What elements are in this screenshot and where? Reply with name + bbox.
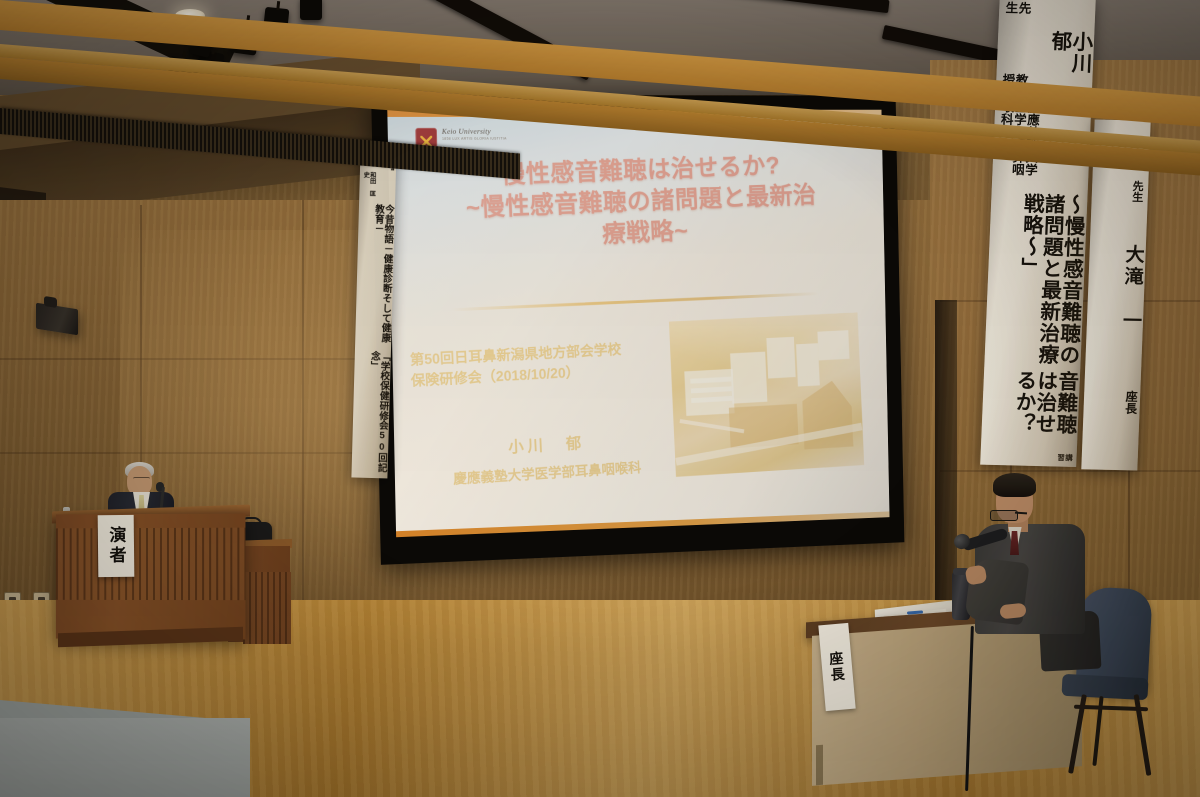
wall-seam-horizontal	[0, 452, 376, 454]
slide-presenter-block: 小川 郁 慶應義塾大学医学部耳鼻咽喉科	[411, 427, 680, 492]
slide-accent-bar-bottom	[396, 511, 890, 537]
chairperson-glasses	[990, 510, 1018, 521]
logo-subtitle: 1858 LUX ARTIS GLORIA IUSTITIA	[442, 137, 507, 141]
podium-fluted-panel	[56, 528, 246, 601]
banner-left-subtitle: 今昔物語－健康診断そして健康教育－	[357, 203, 393, 350]
table-leg	[816, 745, 823, 785]
banner-left-name: 和田 匡史	[361, 171, 375, 202]
speaker-podium	[56, 514, 246, 640]
banner-right-speaker-name: 小川 郁	[1001, 29, 1091, 74]
presenter-glasses	[133, 477, 150, 483]
banner-right-title: 音難聴は治せるか？	[985, 369, 1076, 450]
banner-chair-role: 座長	[1124, 334, 1140, 414]
wall-seam-horizontal	[940, 470, 1200, 472]
banner-right-lecture: 講習 音難聴は治せるか？ ～慢性感音難聴の諸問題と最新治療戦略～」 慶應義塾大学…	[980, 0, 1096, 467]
chairperson-hair	[993, 473, 1036, 497]
podium-placard: 演者	[98, 515, 135, 577]
wall-seam	[302, 200, 304, 630]
slide-divider-rule	[450, 292, 818, 311]
wall-seam-horizontal	[0, 358, 376, 360]
spotlight-7	[300, 0, 322, 20]
slide-event-info: 第50回日耳鼻新潟県地方部会学校 保険研修会（2018/10/20）	[410, 338, 680, 393]
banner-right-header: 講習	[1057, 451, 1073, 461]
campus-aerial-photo	[669, 313, 864, 477]
auditorium-floor	[0, 718, 250, 797]
side-table-panel	[243, 572, 291, 644]
banner-right-subtitle: ～慢性感音難聴の諸問題と最新治療戦略～」	[988, 192, 1083, 370]
banner-chair-name: 大滝 一	[1120, 204, 1145, 332]
banner-left-title: 「学校保健研修会50回記念」	[354, 351, 389, 475]
logo-name: Keio University	[442, 128, 507, 136]
banner-right-honorific: 先生	[1002, 1, 1029, 28]
lecture-hall-photo: Keio University 1858 LUX ARTIS GLORIA IU…	[0, 0, 1200, 797]
banner-chair-honorific: 先生	[1129, 176, 1146, 202]
